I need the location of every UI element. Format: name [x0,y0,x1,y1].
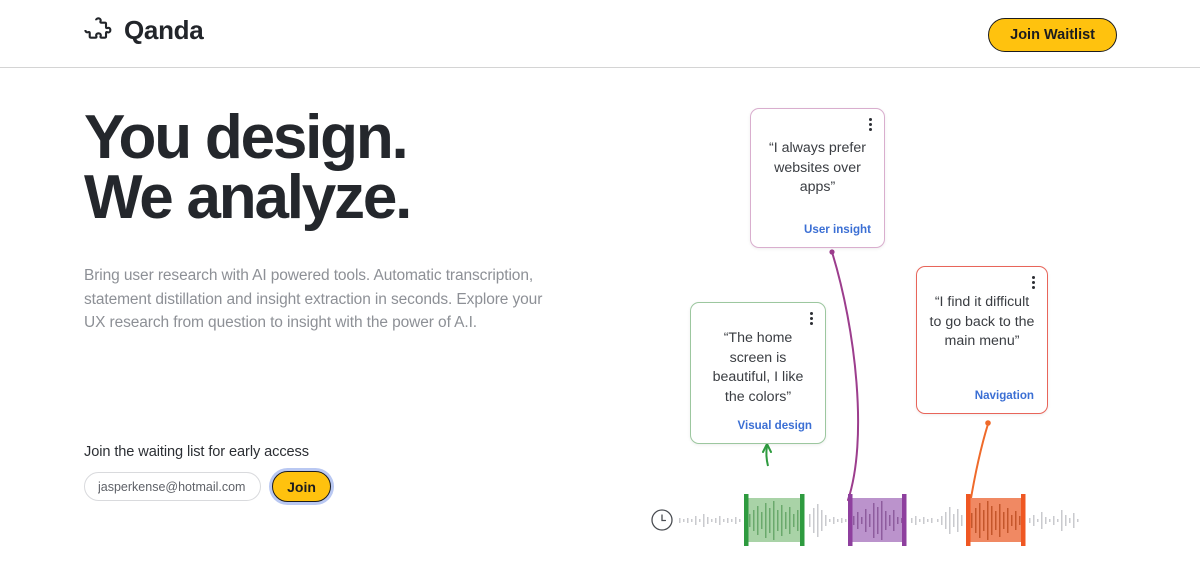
audio-timeline[interactable] [645,490,1095,550]
more-vertical-icon[interactable] [869,118,872,131]
purple-region-handle-right [902,494,907,546]
email-field[interactable] [84,472,261,501]
signup-row: Join [84,471,331,502]
puzzle-piece-icon [84,16,112,44]
insight-card-visual-design[interactable]: “The home screen is beautiful, I like th… [690,302,826,444]
waveform-svg[interactable] [645,490,1095,550]
purple-region-handle-left [848,494,853,546]
brand-name: Qanda [124,16,203,44]
insight-card-tag[interactable]: Navigation [975,389,1034,402]
hero-paragraph: Bring user research with AI powered tool… [84,264,562,335]
orange-region-handle-right [1021,494,1026,546]
insight-board: “I always prefer websites over apps” Use… [620,80,1160,560]
insight-card-tag[interactable]: Visual design [737,419,812,432]
clock-icon [652,510,672,530]
green-region-handle-right [800,494,805,546]
page-title: You design. We analyze. [84,108,624,227]
landing-page: Qanda Join Waitlist You design. We analy… [0,0,1200,567]
signup-label: Join the waiting list for early access [84,444,331,460]
headline-line-2: We analyze. [84,168,624,228]
insight-card-quote: “I find it difficult to go back to the m… [917,293,1047,352]
insight-card-navigation[interactable]: “I find it difficult to go back to the m… [916,266,1048,414]
waitlist-signup: Join the waiting list for early access J… [84,444,331,502]
insight-card-quote: “I always prefer websites over apps” [751,139,884,198]
more-vertical-icon[interactable] [1032,276,1035,289]
insight-card-user-insight[interactable]: “I always prefer websites over apps” Use… [750,108,885,248]
site-header: Qanda Join Waitlist [0,0,1200,68]
orange-region-handle-left [966,494,971,546]
brand-logo[interactable]: Qanda [84,16,203,44]
join-waitlist-button[interactable]: Join Waitlist [988,18,1117,52]
hero-section: You design. We analyze. Bring user resea… [84,108,624,335]
green-region-handle-left [744,494,749,546]
more-vertical-icon[interactable] [810,312,813,325]
join-button[interactable]: Join [272,471,331,502]
insight-card-quote: “The home screen is beautiful, I like th… [691,329,825,407]
insight-card-tag[interactable]: User insight [804,223,871,236]
headline-line-1: You design. [84,103,407,172]
